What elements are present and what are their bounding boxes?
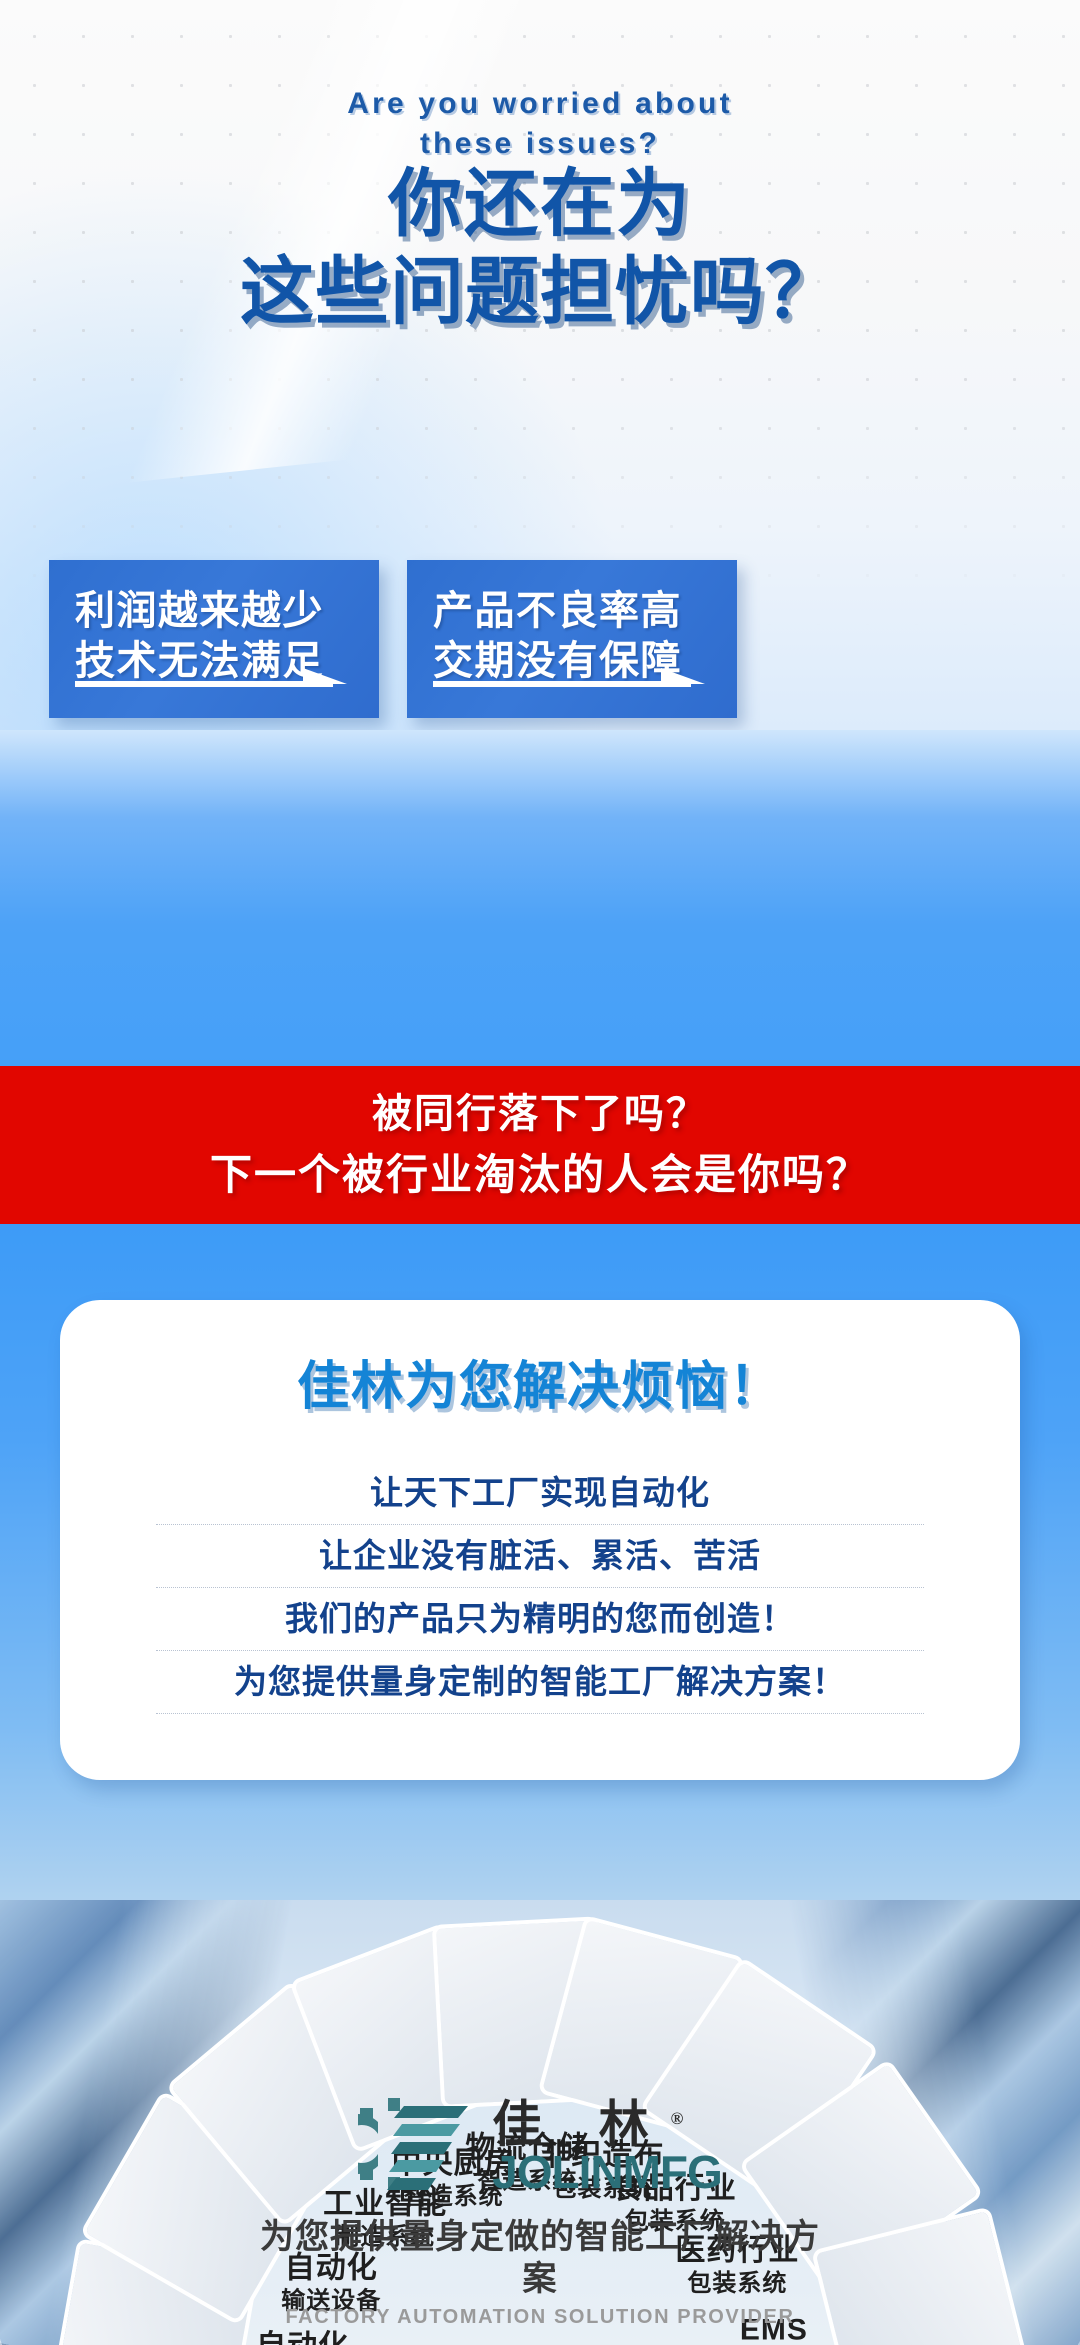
- wheel-hub: 佳 林® JOLINMFG 为您提供量身定做的智能工厂解决方案 FACTORY …: [260, 2092, 820, 2330]
- capability-wheel: 自动化 包装设备 自动化 输送设备 工业智能 制造系统 中央厨房 智造系统: [60, 1924, 1020, 2345]
- hero-chinese-title-line2: 这些问题担忧吗？: [0, 248, 1080, 336]
- logo-chinese-name: 佳 林®: [492, 2092, 722, 2152]
- hero-english-title-line2: these issues?: [0, 124, 1080, 164]
- blue-gradient-band-upper: [0, 730, 1080, 1066]
- arrow-right-icon: [433, 668, 705, 690]
- capability-wheel-section: 自动化 包装设备 自动化 输送设备 工业智能 制造系统 中央厨房 智造系统: [0, 1900, 1080, 2345]
- solution-row: 让企业没有脏活、累活、苦活: [156, 1525, 924, 1588]
- solution-row: 让天下工厂实现自动化: [156, 1462, 924, 1525]
- registered-trademark-icon: ®: [671, 2109, 684, 2128]
- solution-panel: 佳林为您解决烦恼！ 让天下工厂实现自动化 让企业没有脏活、累活、苦活 我们的产品…: [60, 1300, 1020, 1780]
- red-warning-banner: 被同行落下了吗？ 下一个被行业淘汰的人会是你吗？: [0, 1066, 1080, 1224]
- logo-english-name: JOLINMFG: [492, 2148, 722, 2196]
- logo-text: 佳 林® JOLINMFG: [492, 2092, 722, 2196]
- problem-card-line1: 产品不良率高: [433, 586, 715, 636]
- problem-card-line1: 利润越来越少: [75, 586, 357, 636]
- red-banner-line1: 被同行落下了吗？: [0, 1066, 1080, 1136]
- solution-row: 我们的产品只为精明的您而创造！: [156, 1588, 924, 1651]
- gear-logo-icon: [358, 2092, 486, 2196]
- hero-section: Are you worried about these issues? 你还在为…: [0, 0, 1080, 730]
- red-banner-line2: 下一个被行业淘汰的人会是你吗？: [0, 1136, 1080, 1200]
- hub-slogan-english: FACTORY AUTOMATION SOLUTION PROVIDER: [260, 2304, 820, 2330]
- hero-chinese-title: 你还在为 这些问题担忧吗？: [0, 160, 1080, 336]
- hero-english-title-line1: Are you worried about: [0, 84, 1080, 124]
- hub-slogan-chinese: 为您提供量身定做的智能工厂解决方案: [260, 2216, 820, 2300]
- solution-panel-heading: 佳林为您解决烦恼！: [156, 1356, 924, 1418]
- problem-card: 利润越来越少 技术无法满足: [49, 560, 379, 718]
- arrow-right-icon: [75, 668, 347, 690]
- hero-chinese-title-line1: 你还在为: [0, 160, 1080, 248]
- problem-card: 产品不良率高 交期没有保障: [407, 560, 737, 718]
- company-logo[interactable]: 佳 林® JOLINMFG: [260, 2092, 820, 2196]
- hero-english-title: Are you worried about these issues?: [0, 84, 1080, 164]
- solution-row: 为您提供量身定制的智能工厂解决方案！: [156, 1651, 924, 1714]
